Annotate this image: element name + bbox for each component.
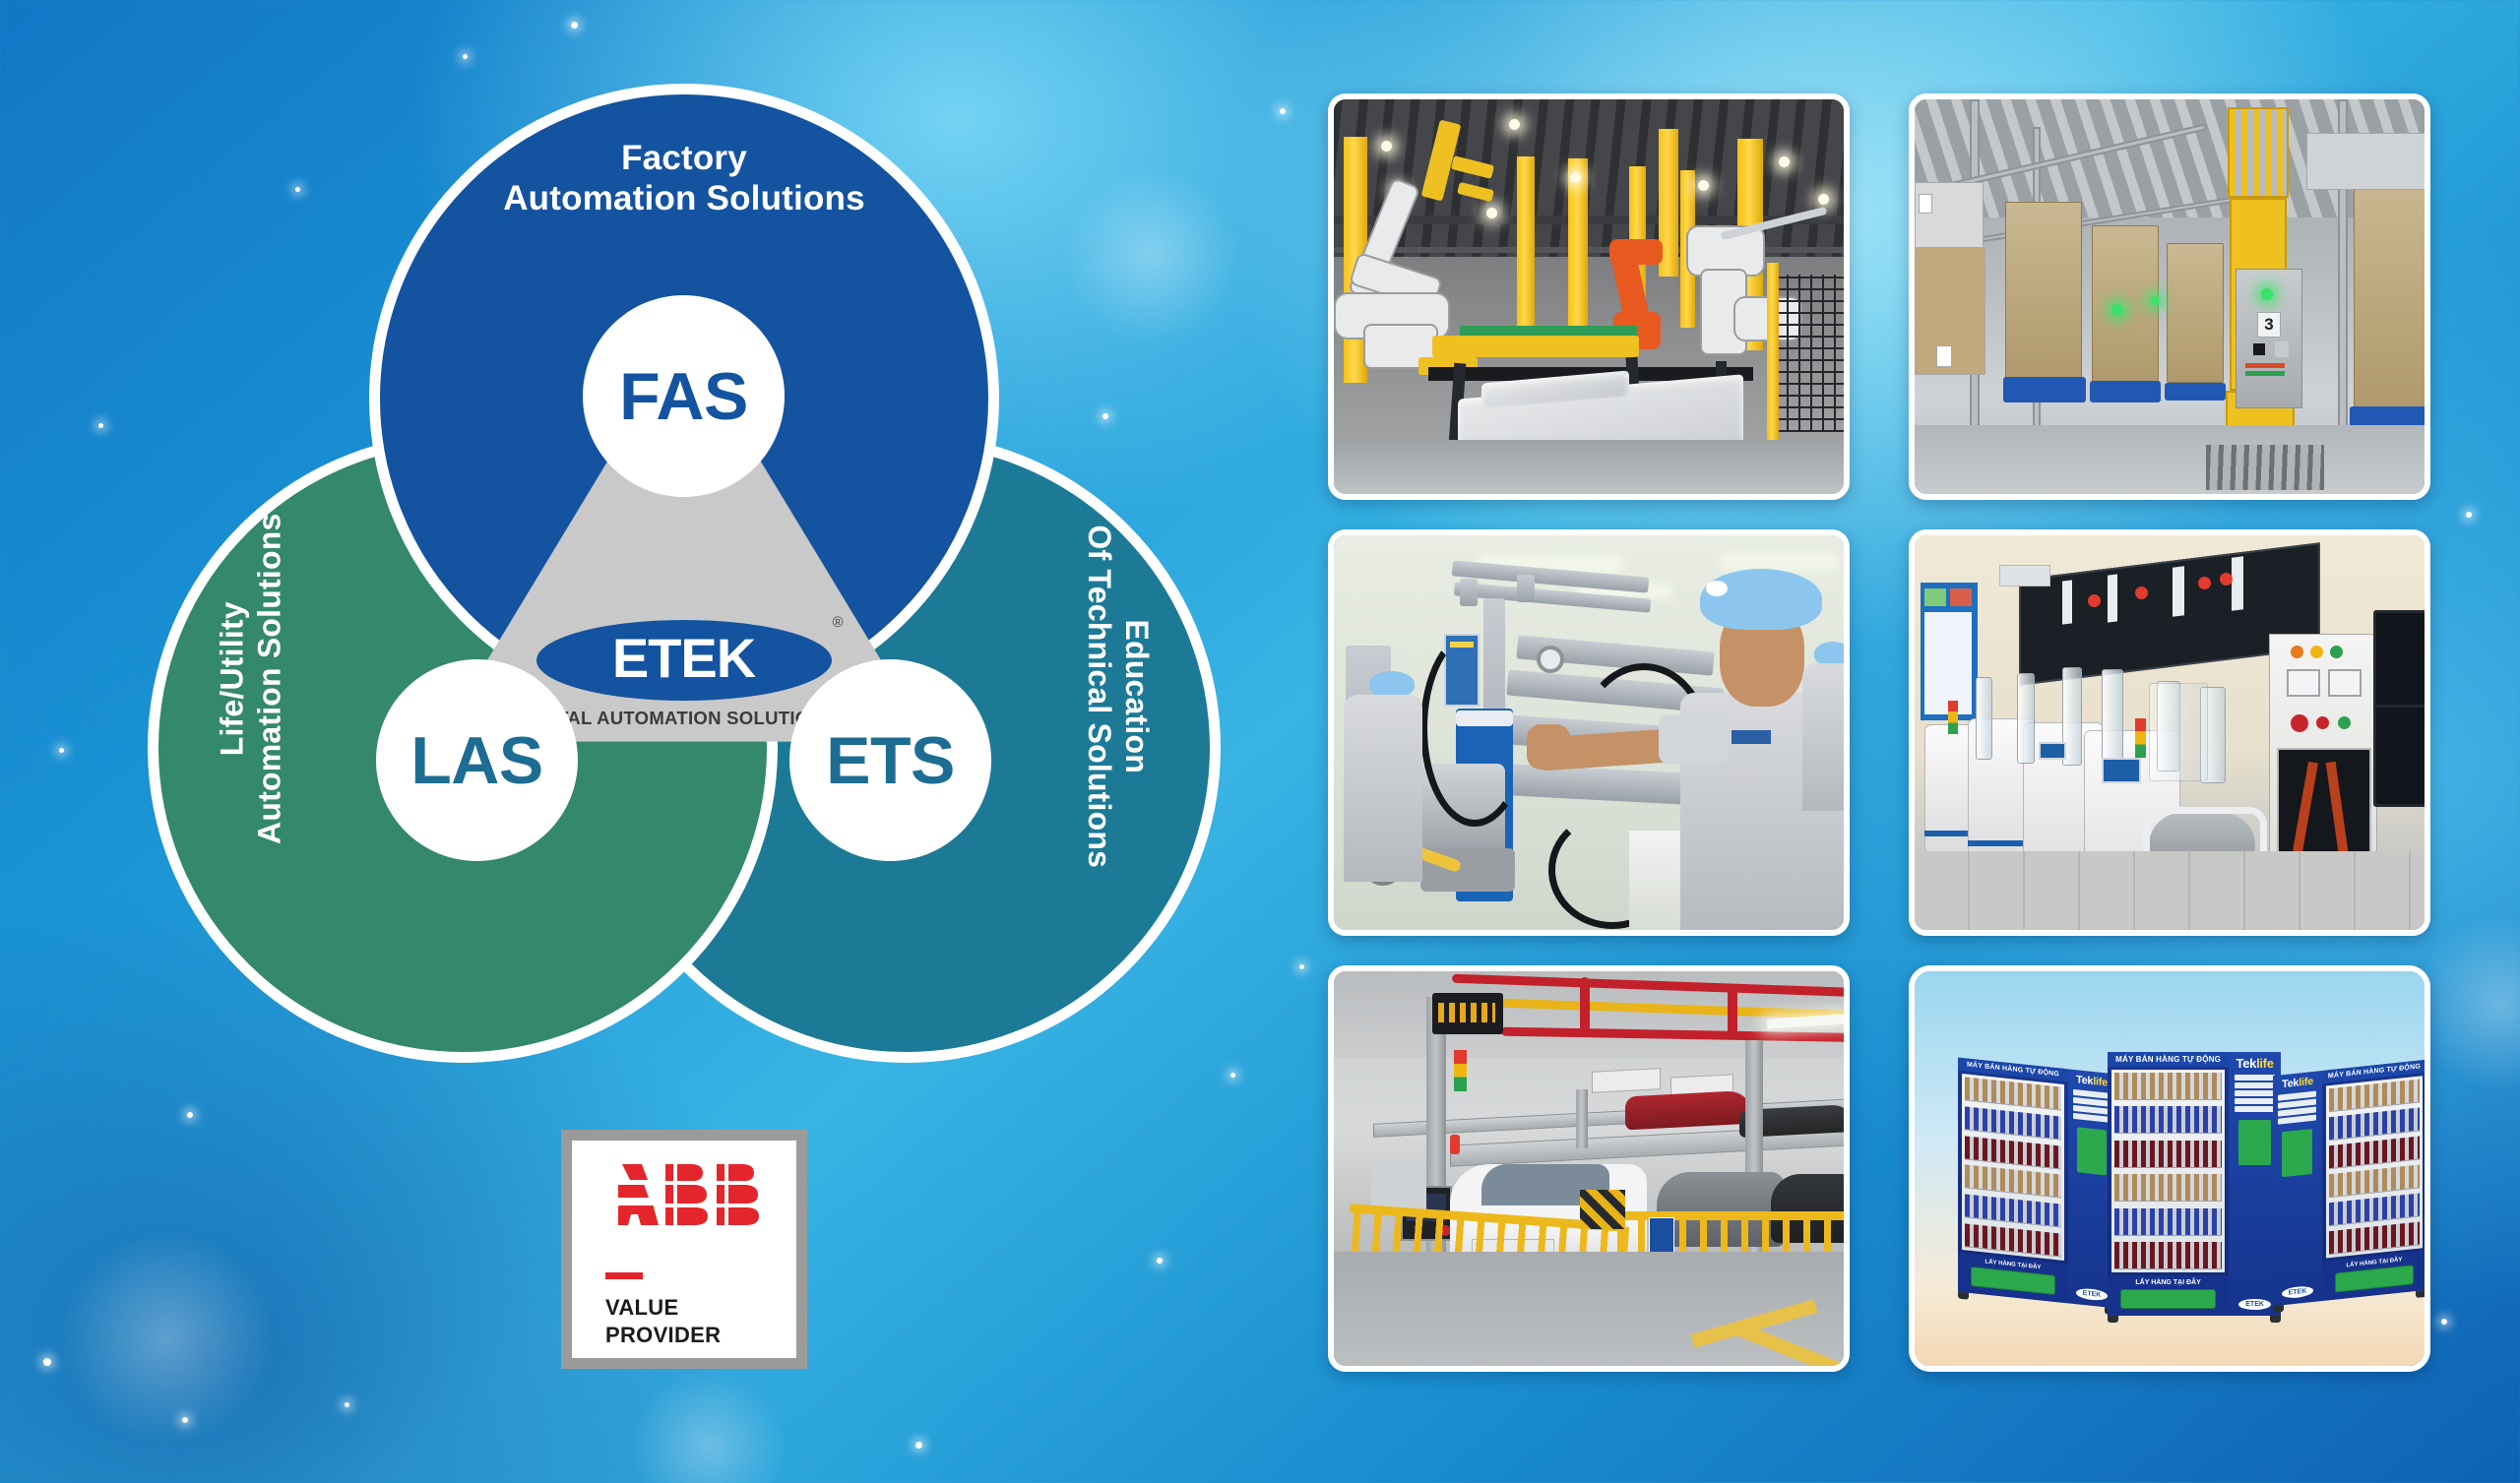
abb-badge-line2: PROVIDER <box>605 1322 721 1349</box>
venn-diagram: Factory Automation Solutions Life/Utilit… <box>148 84 1221 1068</box>
vending-brand-center: Teklife <box>2236 1056 2274 1071</box>
abb-value-provider-badge: VALUE PROVIDER <box>561 1130 807 1369</box>
venn-label-las-line1: Life/Utility <box>214 448 251 910</box>
venn-label-las: Life/Utility Automation Solutions <box>214 448 288 910</box>
photo-robotic-assembly-line <box>1328 93 1850 500</box>
abb-badge-line1: VALUE <box>605 1294 721 1322</box>
abb-logo-icon <box>618 1164 766 1234</box>
vending-machine-right: Teklife ETEK MÁY BÁN HÀNG TỰ ĐỘNG LẤY HÀ… <box>2273 1060 2426 1306</box>
photo-vending-machines: MÁY BÁN HÀNG TỰ ĐỘNG LẤY HÀNG TẠI ĐÂY Te… <box>1909 965 2430 1372</box>
photo-hydraulics-training <box>1328 529 1850 936</box>
vending-machine-center: MÁY BÁN HÀNG TỰ ĐỘNG LẤY HÀNG TẠI ĐÂY Te… <box>2108 1052 2281 1316</box>
venn-label-fas: Factory Automation Solutions <box>448 138 920 219</box>
venn-label-ets: Education Of Technical Solutions <box>1080 465 1155 928</box>
etek-logo-wordmark: ETEK <box>612 631 755 686</box>
photo-automated-parking <box>1328 965 1850 1372</box>
vending-vendor-center: ETEK <box>2238 1299 2271 1310</box>
registered-trademark-icon: ® <box>832 614 843 631</box>
crane-number-plate: 3 <box>2257 312 2281 338</box>
venn-token-fas: FAS <box>583 295 785 497</box>
vending-header-center: MÁY BÁN HÀNG TỰ ĐỘNG <box>2108 1052 2229 1067</box>
vending-machine-left: MÁY BÁN HÀNG TỰ ĐỘNG LẤY HÀNG TẠI ĐÂY Te… <box>1958 1058 2115 1309</box>
venn-label-fas-line2: Automation Solutions <box>448 178 920 218</box>
photo-automated-warehouse: 3 <box>1909 93 2430 500</box>
abb-badge-text: VALUE PROVIDER <box>605 1294 721 1349</box>
vending-vendor-left: ETEK <box>2076 1287 2109 1301</box>
vending-vendor-right: ETEK <box>2282 1285 2314 1299</box>
venn-token-las: LAS <box>376 659 578 861</box>
venn-token-ets: ETS <box>789 659 991 861</box>
abb-divider-dash <box>605 1272 643 1279</box>
venn-label-fas-line1: Factory <box>448 138 920 178</box>
photo-grid: 3 <box>1328 93 2470 1392</box>
vending-brand-left: Teklife <box>2076 1074 2108 1088</box>
photo-process-control-lab <box>1909 529 2430 936</box>
etek-logo-ellipse: ETEK ® <box>536 620 832 701</box>
vending-brand-right: Teklife <box>2282 1076 2313 1090</box>
venn-label-ets-line2: Of Technical Solutions <box>1080 465 1117 928</box>
venn-label-las-line2: Automation Solutions <box>251 448 288 910</box>
vending-footer-center: LẤY HÀNG TẠI ĐÂY <box>2110 1279 2226 1286</box>
venn-label-ets-line1: Education <box>1117 465 1155 928</box>
